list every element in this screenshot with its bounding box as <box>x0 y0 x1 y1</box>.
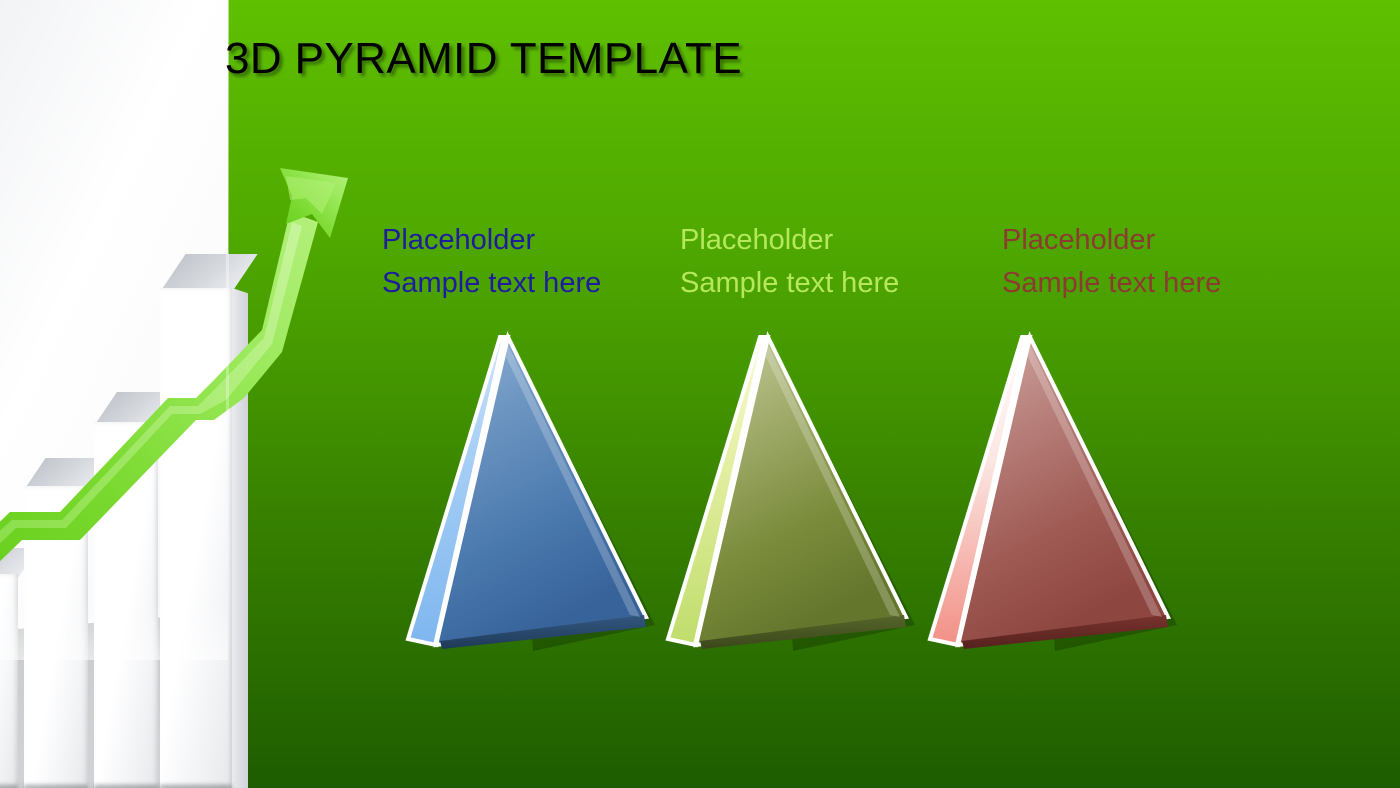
blue-pyramid[interactable] <box>396 327 656 657</box>
arrow-ribbon <box>0 212 318 600</box>
text-block-3-body: Sample text here <box>1002 262 1221 305</box>
growth-arrow <box>0 0 380 788</box>
red-pyramid[interactable] <box>918 327 1178 657</box>
text-block-1-heading: Placeholder <box>382 219 601 262</box>
bar-chart-growth-photo <box>0 0 228 788</box>
text-block-2-body: Sample text here <box>680 262 899 305</box>
page-title: 3D PYRAMID TEMPLATE <box>225 34 742 84</box>
arrow-highlight <box>0 222 302 582</box>
text-block-3-heading: Placeholder <box>1002 219 1221 262</box>
slide-canvas: 3D PYRAMID TEMPLATE Placeholder Sample t… <box>0 0 1400 788</box>
green-pyramid[interactable] <box>656 327 916 657</box>
text-block-2: Placeholder Sample text here <box>680 219 899 305</box>
text-block-3: Placeholder Sample text here <box>1002 219 1221 305</box>
text-block-1-body: Sample text here <box>382 262 601 305</box>
text-block-2-heading: Placeholder <box>680 219 899 262</box>
text-block-1: Placeholder Sample text here <box>382 219 601 305</box>
